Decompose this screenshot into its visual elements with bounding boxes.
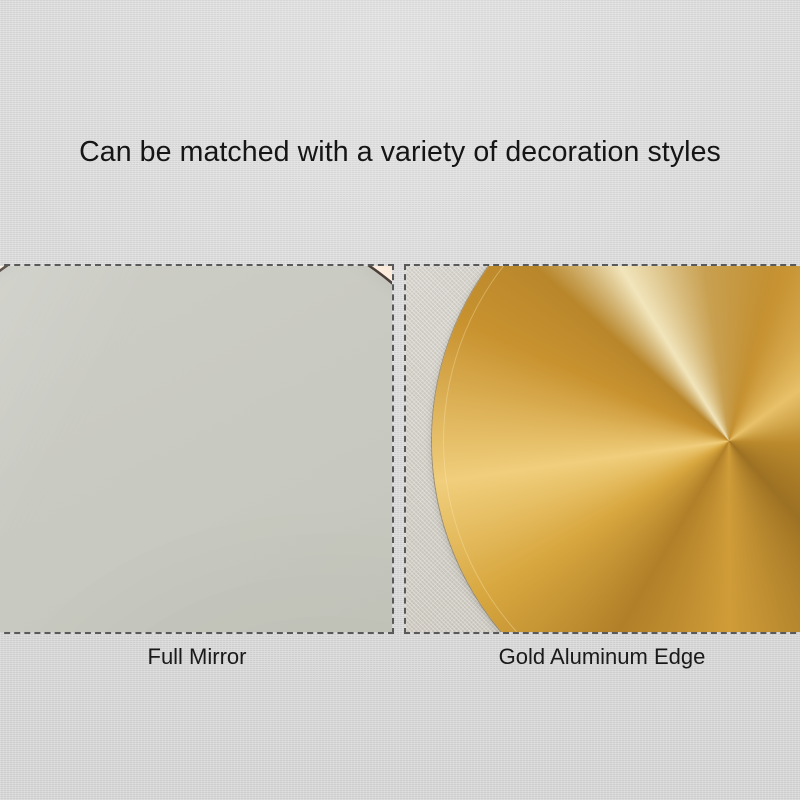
round-mirror-disc bbox=[0, 266, 392, 632]
caption-gold-aluminum-edge: Gold Aluminum Edge bbox=[404, 644, 800, 670]
product-photo-gold-edge bbox=[406, 266, 800, 632]
product-photo-full-mirror bbox=[0, 266, 392, 632]
caption-full-mirror: Full Mirror bbox=[0, 644, 394, 670]
variant-panel-full-mirror[interactable] bbox=[0, 264, 394, 634]
product-detail-page: Can be matched with a variety of decorat… bbox=[0, 0, 800, 800]
variant-captions: Full Mirror Gold Aluminum Edge bbox=[0, 644, 800, 684]
page-title: Can be matched with a variety of decorat… bbox=[0, 136, 800, 169]
gold-aluminum-rim bbox=[432, 266, 800, 632]
variant-panel-gold-aluminum-edge[interactable] bbox=[404, 264, 800, 634]
product-variant-gallery bbox=[0, 264, 800, 634]
mirror-sheen bbox=[0, 266, 392, 632]
